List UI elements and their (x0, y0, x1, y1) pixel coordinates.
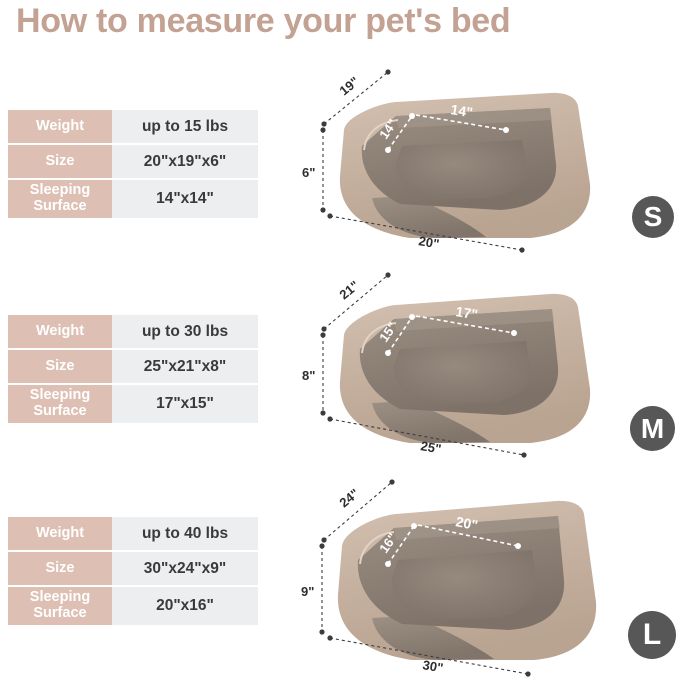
row-label-sleeping-line2: Surface (33, 199, 86, 215)
bed-cushion-pad (394, 341, 530, 404)
dimension-dot (320, 332, 325, 337)
dimension-dot (385, 350, 391, 356)
row-label-sleeping-line2: Surface (33, 606, 86, 622)
row-value-size: 30"x24"x9" (112, 552, 258, 585)
dimension-dot (511, 330, 517, 336)
dimension-dot (385, 561, 391, 567)
dimension-label-width: 30" (421, 657, 444, 675)
table-row: Size 25"x21"x8" (8, 350, 258, 383)
row-label-sleeping-line2: Surface (33, 404, 86, 420)
spec-table-small: Weight up to 15 lbs Size 20"x19"x6" Slee… (8, 110, 258, 218)
row-label-weight: Weight (8, 315, 112, 348)
dimension-dot (521, 452, 526, 457)
table-row: Sleeping Surface 20"x16" (8, 587, 258, 625)
dimension-label-depth: 21" (336, 278, 361, 303)
row-label-size-text: Size (45, 561, 74, 577)
spec-table-large: Weight up to 40 lbs Size 30"x24"x9" Slee… (8, 517, 258, 625)
dimension-dot (525, 671, 530, 676)
table-row: Size 30"x24"x9" (8, 552, 258, 585)
row-value-sleeping-surface: 20"x16" (112, 587, 258, 625)
bed-illustration-small: 19" 6" 20" 14" 14" (300, 58, 630, 258)
row-label-weight-text: Weight (36, 324, 84, 340)
dimension-dot (327, 213, 332, 218)
row-value-size: 20"x19"x6" (112, 145, 258, 178)
table-row: Weight up to 40 lbs (8, 517, 258, 550)
dimension-dot (409, 113, 415, 119)
row-label-size: Size (8, 145, 112, 178)
dimension-label-width: 20" (417, 233, 440, 251)
row-label-weight-text: Weight (36, 119, 84, 135)
row-label-size-text: Size (45, 154, 74, 170)
dimension-label-height: 9" (301, 584, 314, 599)
dimension-dot (519, 247, 524, 252)
dimension-dot (409, 314, 415, 320)
table-row: Weight up to 15 lbs (8, 110, 258, 143)
row-label-weight: Weight (8, 110, 112, 143)
dimension-label-depth: 19" (336, 74, 361, 99)
spec-table-medium: Weight up to 30 lbs Size 25"x21"x8" Slee… (8, 315, 258, 423)
dimension-dot (321, 121, 326, 126)
size-badge-medium: M (630, 406, 675, 451)
dimension-dot (411, 523, 417, 529)
table-row: Sleeping Surface 17"x15" (8, 385, 258, 423)
dimension-dot (389, 479, 394, 484)
dimension-dot (503, 127, 509, 133)
dimension-dot (320, 410, 325, 415)
table-row: Size 20"x19"x6" (8, 145, 258, 178)
dimension-dot (320, 207, 325, 212)
row-value-sleeping-surface: 14"x14" (112, 180, 258, 218)
dimension-label-depth: 24" (336, 486, 361, 511)
row-label-sleeping-surface: Sleeping Surface (8, 587, 112, 625)
bed-cushion-pad (396, 140, 526, 199)
row-value-size: 25"x21"x8" (112, 350, 258, 383)
dimension-dot (515, 543, 521, 549)
row-label-sleeping-surface: Sleeping Surface (8, 385, 112, 423)
dimension-label-height: 6" (302, 165, 315, 180)
dimension-dot (319, 543, 324, 548)
table-row: Weight up to 30 lbs (8, 315, 258, 348)
page-title: How to measure your pet's bed (16, 2, 510, 41)
row-value-weight: up to 30 lbs (112, 315, 258, 348)
table-row: Sleeping Surface 14"x14" (8, 180, 258, 218)
row-label-weight-text: Weight (36, 526, 84, 542)
dimension-dot (319, 629, 324, 634)
row-value-weight: up to 40 lbs (112, 517, 258, 550)
size-badge-large: L (628, 611, 676, 659)
dimension-dot (385, 272, 390, 277)
dimension-dot (321, 537, 326, 542)
dimension-dot (320, 127, 325, 132)
dimension-dot (321, 326, 326, 331)
row-label-size: Size (8, 350, 112, 383)
dimension-label-height: 8" (302, 368, 315, 383)
dimension-dot (385, 69, 390, 74)
bed-illustration-large: 24" 9" 30" 16" 20" (300, 468, 630, 683)
dimension-dot (385, 147, 391, 153)
row-label-sleeping-surface: Sleeping Surface (8, 180, 112, 218)
bed-cushion-pad (392, 550, 536, 619)
row-label-sleeping-line1: Sleeping (30, 183, 90, 199)
row-value-sleeping-surface: 17"x15" (112, 385, 258, 423)
row-label-size: Size (8, 552, 112, 585)
dimension-dot (327, 635, 332, 640)
row-label-sleeping-line1: Sleeping (30, 388, 90, 404)
row-label-weight: Weight (8, 517, 112, 550)
size-badge-small: S (632, 196, 674, 238)
row-label-sleeping-line1: Sleeping (30, 590, 90, 606)
bed-illustration-medium: 21" 8" 25" 15" 17" (300, 263, 630, 463)
dimension-dot (327, 416, 332, 421)
row-value-weight: up to 15 lbs (112, 110, 258, 143)
row-label-size-text: Size (45, 359, 74, 375)
dimension-label-width: 25" (419, 438, 442, 456)
